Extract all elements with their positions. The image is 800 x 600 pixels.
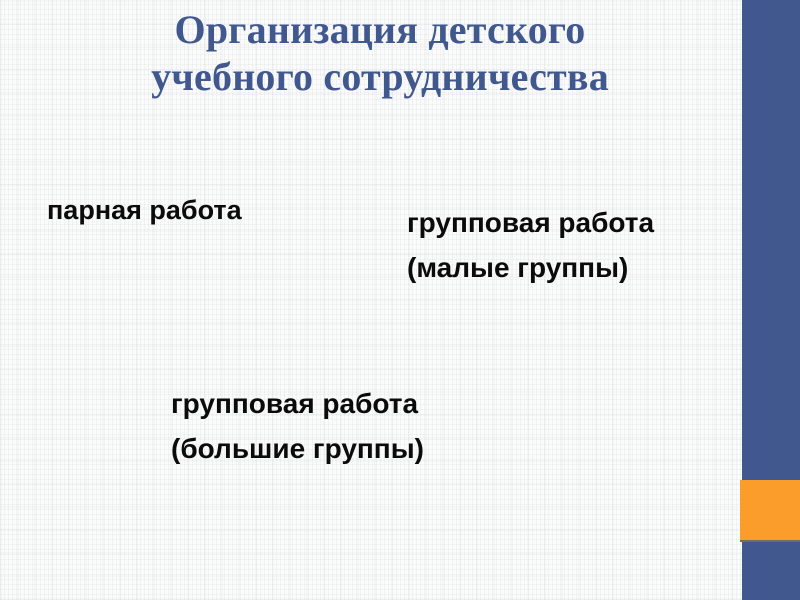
page-title: Организация детского учебного сотрудниче… [70,6,690,100]
sidebar-accent-block [740,480,800,542]
text-block-large-groups: групповая работа (большие группы) [171,381,424,471]
text-block-pair-work: парная работа [47,193,242,227]
text-block-small-groups: групповая работа (малые группы) [407,200,654,290]
slide-canvas: Организация детского учебного сотрудниче… [0,0,800,600]
